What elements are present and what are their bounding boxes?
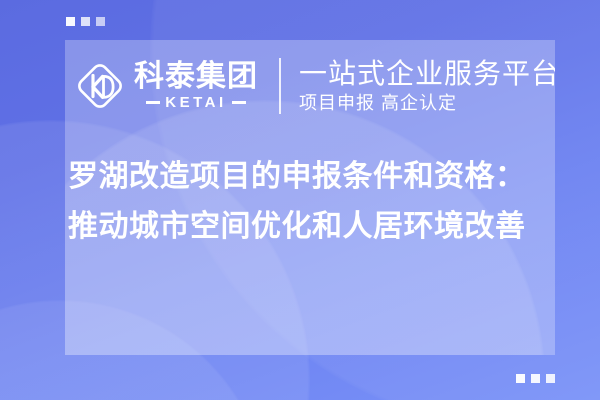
slogan-secondary: 项目申报 高企认定	[299, 92, 555, 115]
decorative-square-icon	[66, 17, 75, 26]
content-card: 科泰集团 KETAI 一站式企业服务平台 项目申报 高企认定 罗湖改造项目的申报…	[65, 40, 555, 355]
brand-slogan: 一站式企业服务平台 项目申报 高企认定	[299, 57, 555, 115]
slogan-primary: 一站式企业服务平台	[299, 57, 555, 90]
decorative-square-icon	[546, 374, 555, 383]
logo-rule-left	[146, 101, 160, 104]
decorative-square-icon	[81, 17, 90, 26]
decorative-dots-top-left	[66, 17, 105, 26]
logo-name-en: KETAI	[165, 94, 226, 111]
logo-wordmark: 科泰集团 KETAI	[134, 61, 258, 111]
headline-line-2: 推动城市空间优化和人居环境改善	[68, 202, 553, 252]
headline-line-1: 罗湖改造项目的申报条件和资格：	[68, 152, 553, 202]
brand-divider	[279, 58, 281, 114]
decorative-square-icon	[531, 374, 540, 383]
logo-name-en-row: KETAI	[146, 94, 245, 111]
brand-header: 科泰集团 KETAI 一站式企业服务平台 项目申报 高企认定	[65, 45, 555, 127]
logo-rule-right	[232, 101, 246, 104]
logo-name-cn: 科泰集团	[134, 61, 258, 93]
decorative-dots-bottom-right	[516, 374, 555, 383]
decorative-square-icon	[516, 374, 525, 383]
promo-banner: 科泰集团 KETAI 一站式企业服务平台 项目申报 高企认定 罗湖改造项目的申报…	[0, 0, 600, 400]
headline-block: 罗湖改造项目的申报条件和资格： 推动城市空间优化和人居环境改善	[66, 152, 555, 252]
company-logo[interactable]: 科泰集团 KETAI	[72, 58, 258, 114]
ketai-diamond-kd-logo-icon	[72, 58, 128, 114]
decorative-square-icon	[96, 17, 105, 26]
